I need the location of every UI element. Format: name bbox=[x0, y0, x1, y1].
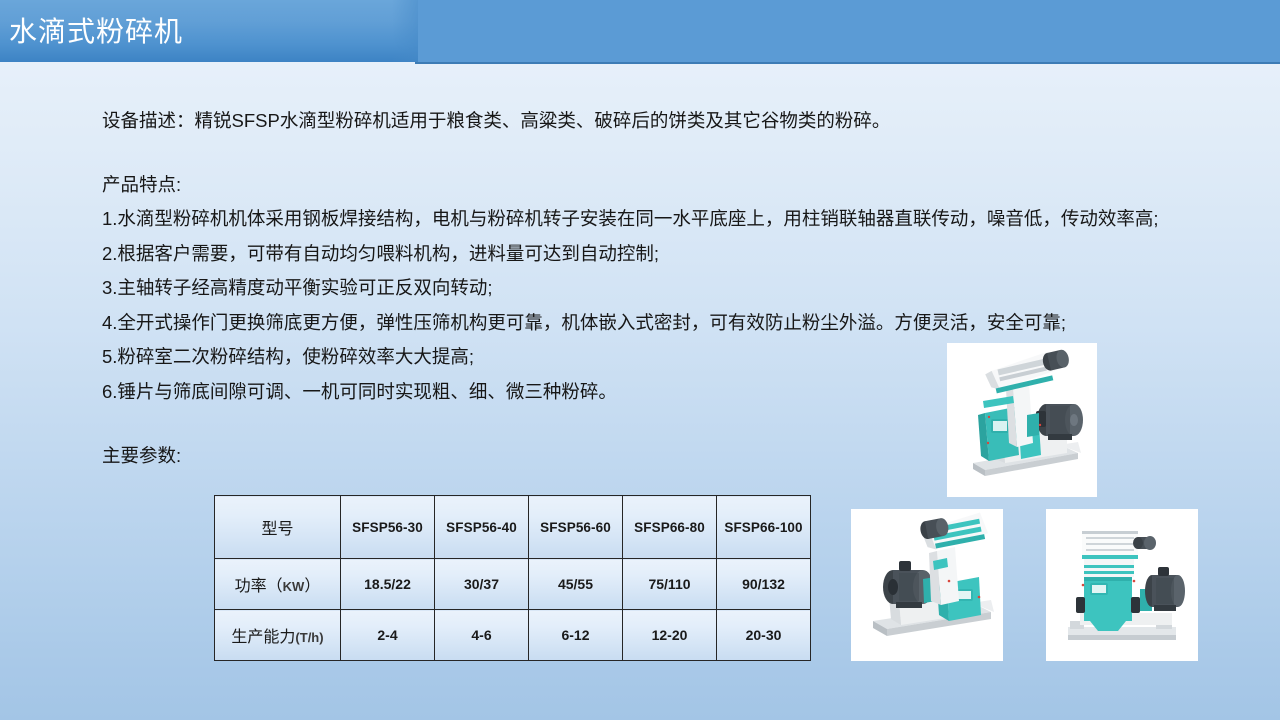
row-header-model: 型号 bbox=[215, 496, 341, 559]
hammer-mill-photo-left bbox=[851, 509, 1003, 661]
table-row-model: 型号 SFSP56-30 SFSP56-40 SFSP56-60 SFSP66-… bbox=[215, 496, 811, 559]
cell-model-2: SFSP56-40 bbox=[435, 496, 529, 559]
params-heading: 主要参数: bbox=[102, 441, 181, 471]
cell-capacity-3: 6-12 bbox=[529, 610, 623, 661]
row-header-power-tail: ） bbox=[304, 578, 320, 595]
cell-power-2: 30/37 bbox=[435, 559, 529, 610]
row-header-capacity-main: 生产能力 bbox=[231, 629, 295, 646]
hammer-mill-photo-right bbox=[1046, 509, 1198, 661]
cell-model-5: SFSP66-100 bbox=[717, 496, 811, 559]
cell-model-3: SFSP56-60 bbox=[529, 496, 623, 559]
spec-table: 型号 SFSP56-30 SFSP56-40 SFSP56-60 SFSP66-… bbox=[214, 495, 811, 661]
feature-item-4: 4.全开式操作门更换筛底更方便，弹性压筛机构更可靠，机体嵌入式密封，可有效防止粉… bbox=[102, 306, 1192, 341]
title-bar-right-block bbox=[415, 0, 1280, 64]
equipment-description: 设备描述：精锐SFSP水滴型粉碎机适用于粮食类、高粱类、破碎后的饼类及其它谷物类… bbox=[102, 104, 1192, 138]
features-heading: 产品特点: bbox=[102, 168, 1192, 202]
cell-power-4: 75/110 bbox=[623, 559, 717, 610]
title-bar: 水滴式粉碎机 bbox=[0, 0, 1280, 65]
cell-capacity-2: 4-6 bbox=[435, 610, 529, 661]
cell-capacity-1: 2-4 bbox=[341, 610, 435, 661]
feature-item-3: 3.主轴转子经高精度动平衡实验可正反双向转动; bbox=[102, 271, 1192, 306]
cell-power-3: 45/55 bbox=[529, 559, 623, 610]
hammer-mill-photo-top bbox=[947, 343, 1097, 497]
cell-capacity-5: 20-30 bbox=[717, 610, 811, 661]
feature-item-1: 1.水滴型粉碎机机体采用钢板焊接结构，电机与粉碎机转子安装在同一水平底座上，用柱… bbox=[102, 202, 1192, 237]
row-header-power: 功率（KW） bbox=[215, 559, 341, 610]
table-row-capacity: 生产能力(T/h) 2-4 4-6 6-12 12-20 20-30 bbox=[215, 610, 811, 661]
cell-power-1: 18.5/22 bbox=[341, 559, 435, 610]
row-header-capacity: 生产能力(T/h) bbox=[215, 610, 341, 661]
row-header-capacity-unit: (T/h) bbox=[295, 630, 323, 645]
cell-capacity-4: 12-20 bbox=[623, 610, 717, 661]
cell-model-1: SFSP56-30 bbox=[341, 496, 435, 559]
row-header-power-unit: KW bbox=[283, 579, 305, 594]
row-header-power-main: 功率（ bbox=[235, 578, 283, 595]
page-title: 水滴式粉碎机 bbox=[9, 16, 183, 48]
feature-item-2: 2.根据客户需要，可带有自动均匀喂料机构，进料量可达到自动控制; bbox=[102, 237, 1192, 272]
cell-power-5: 90/132 bbox=[717, 559, 811, 610]
cell-model-4: SFSP66-80 bbox=[623, 496, 717, 559]
table-row-power: 功率（KW） 18.5/22 30/37 45/55 75/110 90/132 bbox=[215, 559, 811, 610]
slide-canvas: 水滴式粉碎机 设备描述：精锐SFSP水滴型粉碎机适用于粮食类、高粱类、破碎后的饼… bbox=[0, 0, 1280, 720]
